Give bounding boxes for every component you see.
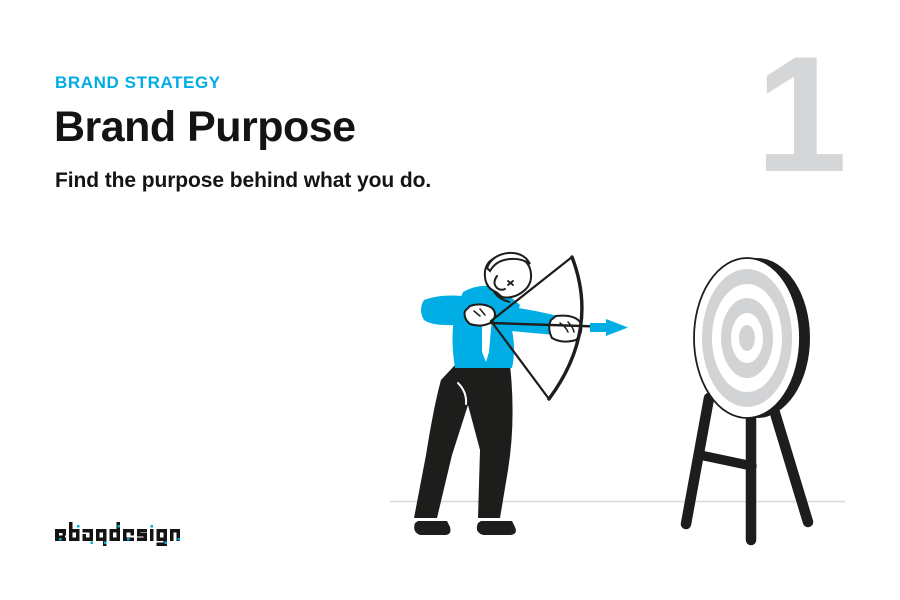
archery-target-icon [686, 258, 810, 540]
archer-figure-icon [414, 253, 581, 535]
eyebrow-label: BRAND STRATEGY [55, 74, 221, 91]
slide-number: 1 [756, 32, 844, 197]
bow-and-arrow-icon [491, 257, 628, 399]
ebaqdesign-logo[interactable]: ebaqdesign [54, 518, 184, 552]
slide-canvas: 1 BRAND STRATEGY Brand Purpose Find the … [0, 0, 900, 600]
page-subtitle: Find the purpose behind what you do. [55, 168, 431, 193]
page-title: Brand Purpose [54, 104, 356, 151]
